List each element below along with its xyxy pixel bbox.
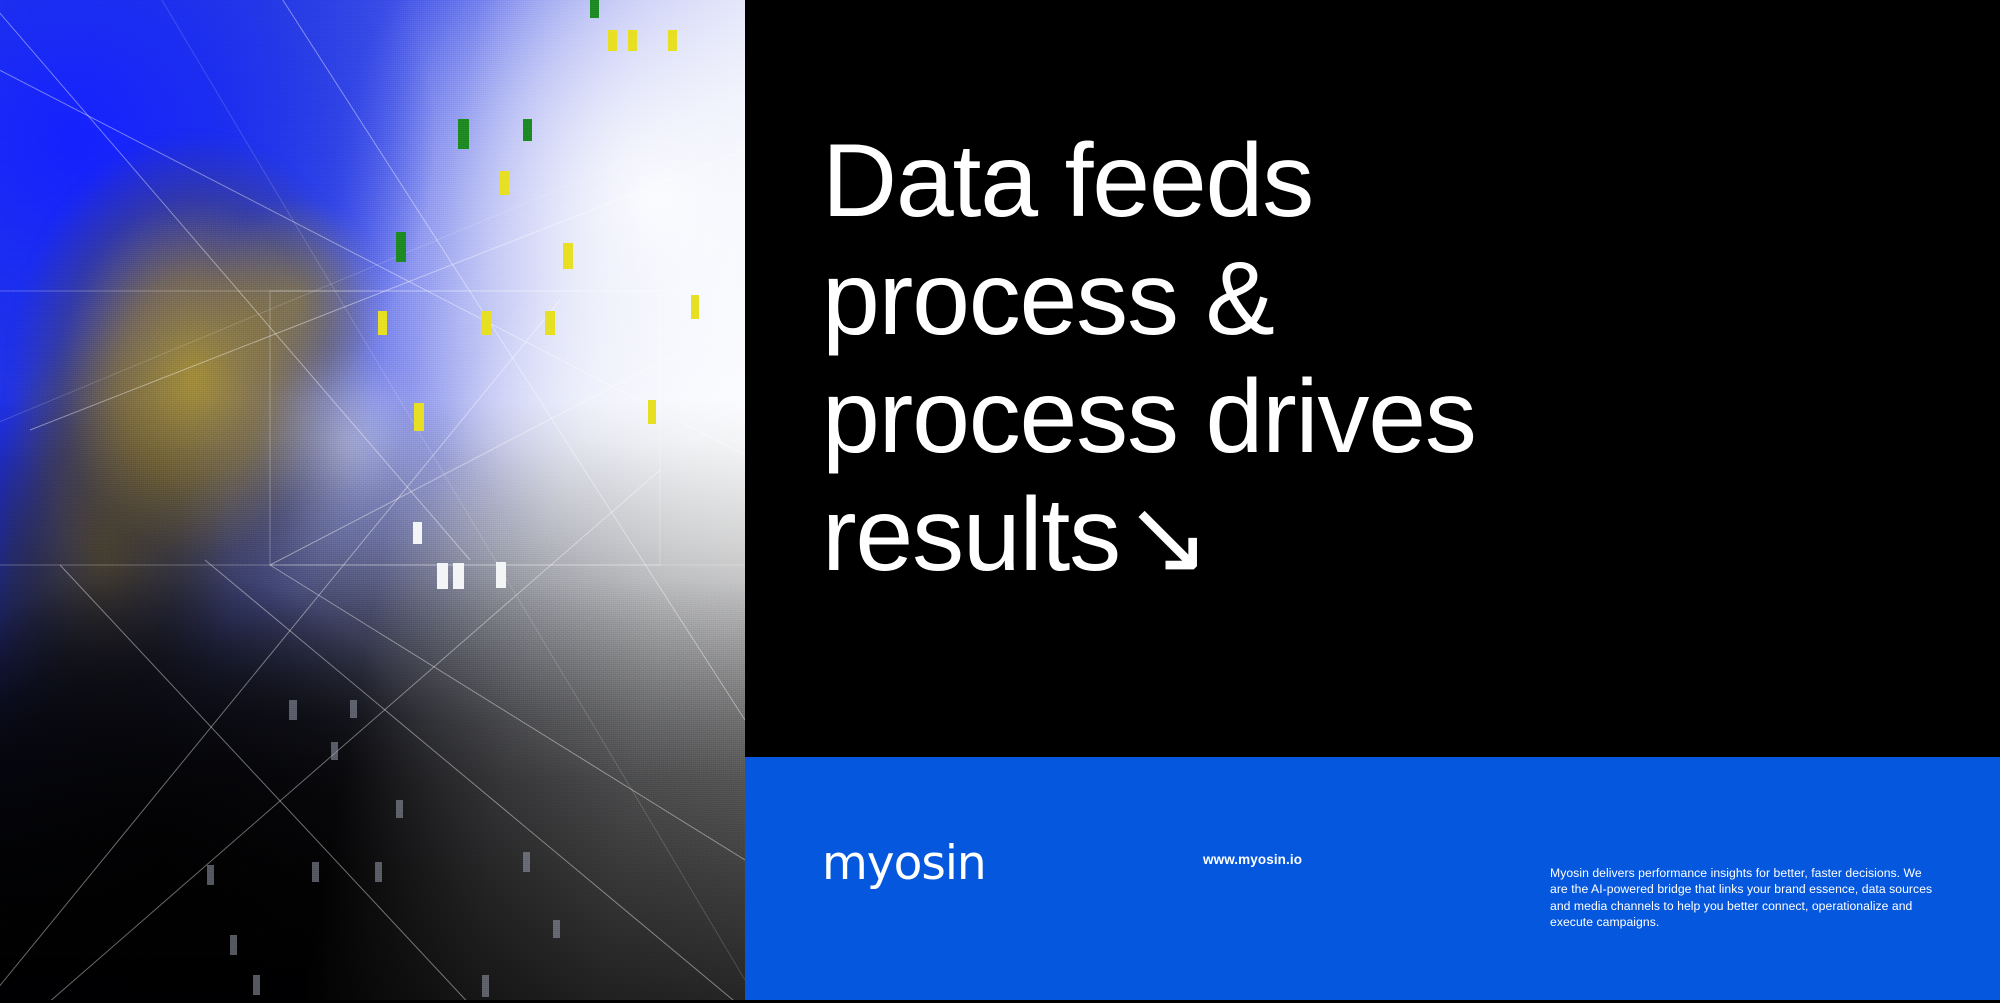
footer-section: myosin www.myosin.io Myosin delivers per…: [745, 757, 2000, 1000]
headline-line-4: results↘: [822, 476, 1992, 596]
headline-line-4-text: results: [822, 477, 1120, 593]
headline-line-1: Data feeds: [822, 122, 1992, 240]
artwork-grain-fine: [0, 0, 745, 1000]
company-description: Myosin delivers performance insights for…: [1550, 865, 1935, 930]
arrow-down-right-icon: ↘: [1124, 478, 1210, 596]
page-title: Data feeds process & process drives resu…: [822, 122, 1992, 596]
headline-line-3: process drives: [822, 358, 1992, 476]
poster-canvas: Data feeds process & process drives resu…: [0, 0, 2000, 1003]
artwork-panel: [0, 0, 745, 1000]
headline-line-2: process &: [822, 240, 1992, 358]
myosin-logo: myosin: [822, 840, 986, 887]
website-link[interactable]: www.myosin.io: [1203, 853, 1302, 867]
hero-section: Data feeds process & process drives resu…: [745, 0, 2000, 757]
